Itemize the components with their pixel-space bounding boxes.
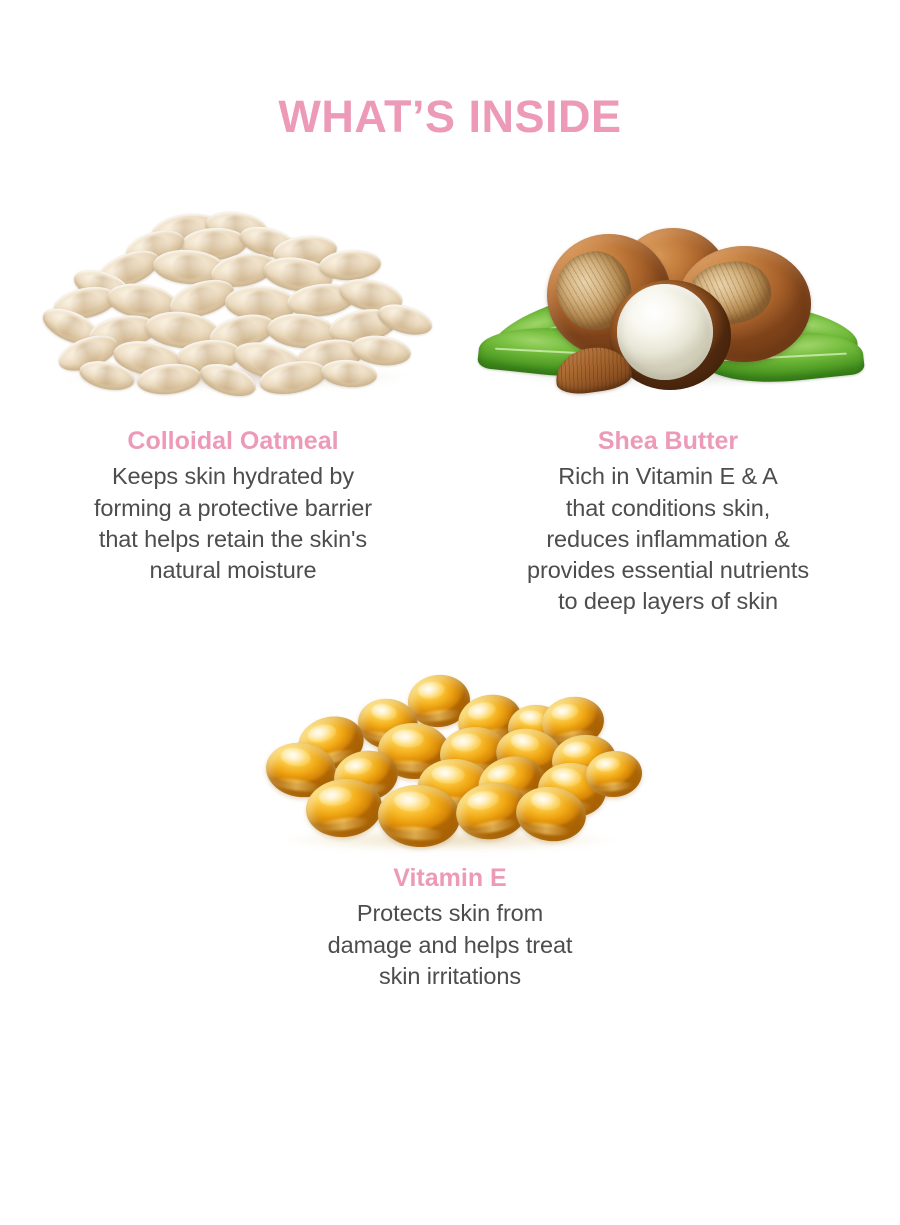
ingredient-name: Colloidal Oatmeal [8, 426, 458, 457]
oat-pile-illustration [33, 210, 433, 406]
whats-inside-infographic: WHAT’S INSIDE [0, 0, 900, 1225]
ingredient-card-shea-butter: Shea Butter Rich in Vitamin E & A that c… [442, 192, 894, 618]
ingredient-description: Protects skin from damage and helps trea… [225, 898, 675, 992]
shea-nuts-with-leaves-photo [442, 192, 894, 420]
ingredient-card-vitamin-e: Vitamin E Protects skin from damage and … [225, 645, 675, 992]
ingredient-name: Vitamin E [225, 863, 675, 894]
shea-butter-interior [617, 284, 713, 380]
ingredient-card-colloidal-oatmeal: Colloidal Oatmeal Keeps skin hydrated by… [8, 192, 458, 586]
oat-flakes-pile-photo [8, 192, 458, 420]
vitamin-e-gel-capsules-photo [225, 645, 675, 857]
shea-nut-illustration [469, 206, 867, 406]
shell-fragment [552, 343, 633, 397]
ingredient-description: Rich in Vitamin E & A that conditions sk… [442, 461, 894, 617]
ingredient-description: Keeps skin hydrated by forming a protect… [8, 461, 458, 586]
page-title: WHAT’S INSIDE [0, 92, 900, 142]
capsule-pile-illustration [250, 671, 650, 857]
ingredient-name: Shea Butter [442, 426, 894, 457]
